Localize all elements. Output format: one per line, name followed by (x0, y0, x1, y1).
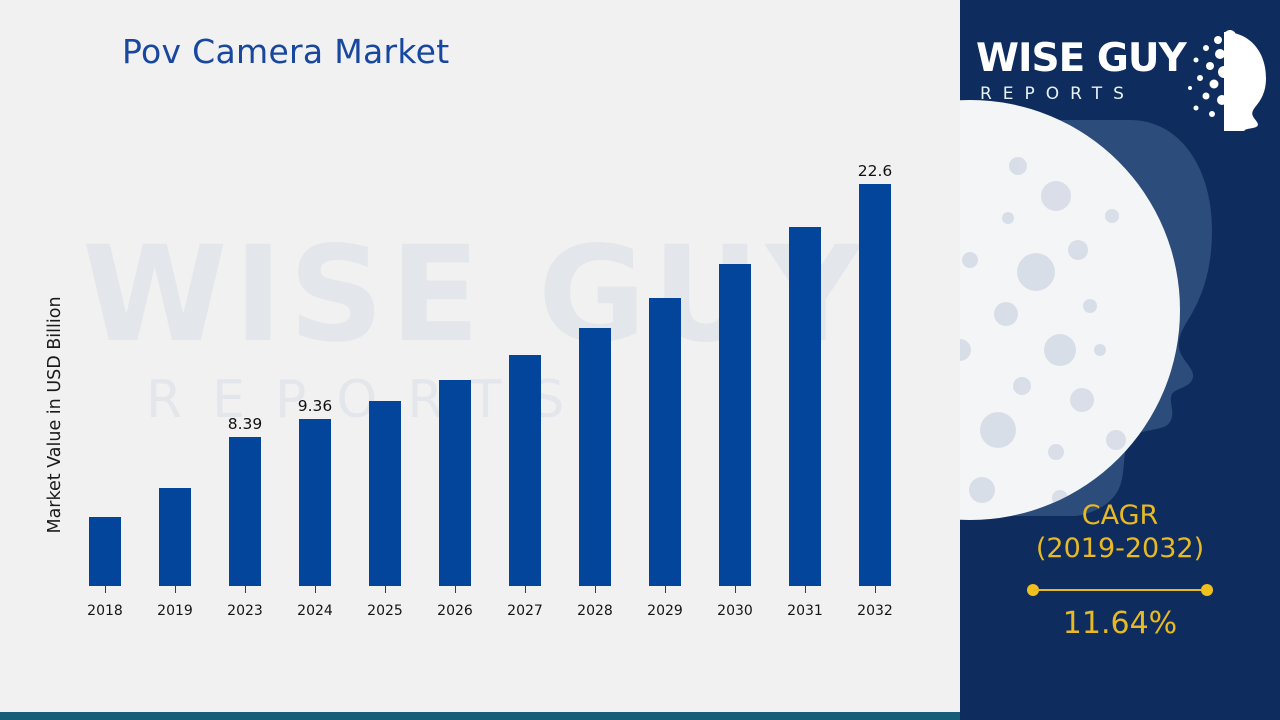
bar[interactable] (229, 437, 261, 586)
x-axis-label: 2023 (210, 603, 280, 619)
branding-panel: WISE GUY REPORTS CAGR (2019-2032) (960, 0, 1280, 720)
bar-value-label: 22.6 (858, 162, 893, 180)
bar-group: 2019 (140, 150, 210, 586)
x-axis-tick (455, 586, 456, 593)
bar-group: 2031 (770, 150, 840, 586)
x-axis-label: 2025 (350, 603, 420, 619)
x-axis-tick (805, 586, 806, 593)
bar[interactable] (719, 264, 751, 586)
x-axis-label: 2018 (70, 603, 140, 619)
cagr-value: 11.64% (960, 606, 1280, 641)
x-axis-tick (735, 586, 736, 593)
cagr-block: CAGR (2019-2032) 11.64% (960, 500, 1280, 641)
bar[interactable] (159, 488, 191, 586)
bar[interactable] (89, 517, 121, 586)
bar-series: 201820198.3920239.3620242025202620272028… (70, 150, 910, 586)
logo-primary-text: WISE GUY (976, 36, 1186, 81)
circle-dots-pattern (960, 100, 1180, 520)
logo-secondary-text: REPORTS (980, 84, 1135, 104)
bar[interactable] (369, 401, 401, 586)
bar[interactable] (649, 298, 681, 586)
bar[interactable] (509, 355, 541, 586)
bar[interactable] (439, 380, 471, 586)
x-axis-tick (175, 586, 176, 593)
x-axis-tick (875, 586, 876, 593)
cagr-divider (1027, 584, 1213, 596)
bar-group: 2028 (560, 150, 630, 586)
x-axis-label: 2031 (770, 603, 840, 619)
cagr-range: (2019-2032) (960, 533, 1280, 566)
x-axis-label: 2029 (630, 603, 700, 619)
x-axis-tick (385, 586, 386, 593)
bar[interactable] (789, 227, 821, 586)
x-axis-label: 2030 (700, 603, 770, 619)
x-axis-tick (105, 586, 106, 593)
dotted-head-icon (1166, 26, 1276, 136)
bar-value-label: 8.39 (228, 415, 263, 433)
x-axis-label: 2024 (280, 603, 350, 619)
cagr-title: CAGR (960, 500, 1280, 533)
y-axis-label: Market Value in USD Billion (45, 235, 65, 595)
x-axis-label: 2032 (840, 603, 910, 619)
x-axis-label: 2019 (140, 603, 210, 619)
x-axis-tick (595, 586, 596, 593)
x-axis-tick (525, 586, 526, 593)
bar-group: 2029 (630, 150, 700, 586)
x-axis-label: 2028 (560, 603, 630, 619)
x-axis-tick (245, 586, 246, 593)
bar-group: 2018 (70, 150, 140, 586)
page-title: Pov Camera Market (122, 32, 449, 71)
x-axis-label: 2027 (490, 603, 560, 619)
bar-group: 22.62032 (840, 150, 910, 586)
bar[interactable] (859, 184, 891, 586)
brand-logo: WISE GUY REPORTS (970, 28, 1270, 124)
bar-group: 2025 (350, 150, 420, 586)
plot-area: 201820198.3920239.3620242025202620272028… (70, 150, 910, 586)
divider-line (1033, 589, 1207, 591)
x-axis-tick (665, 586, 666, 593)
bar[interactable] (299, 419, 331, 586)
bar-group: 2030 (700, 150, 770, 586)
bottom-accent-strip (0, 712, 962, 720)
bar[interactable] (579, 328, 611, 586)
bar-group: 9.362024 (280, 150, 350, 586)
divider-dot-right (1201, 584, 1213, 596)
screenshot-root: Pov Camera Market WISE GUY REPORTS Marke… (0, 0, 1280, 720)
x-axis-label: 2026 (420, 603, 490, 619)
x-axis-tick (315, 586, 316, 593)
bar-value-label: 9.36 (298, 397, 333, 415)
bar-group: 8.392023 (210, 150, 280, 586)
bar-group: 2026 (420, 150, 490, 586)
chart-panel: Pov Camera Market WISE GUY REPORTS Marke… (0, 0, 962, 720)
bar-group: 2027 (490, 150, 560, 586)
